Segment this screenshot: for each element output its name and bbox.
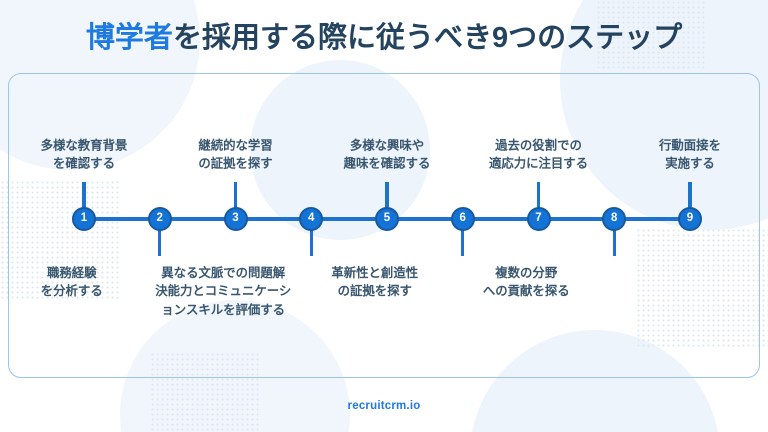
- timeline-node-5[interactable]: 5: [375, 207, 399, 231]
- timeline-node-6[interactable]: 6: [451, 207, 475, 231]
- page-title-rest: を採用する際に従うべき9つのステップ: [173, 22, 682, 54]
- timeline-label-8: 複数の分野 への貢献を探る: [438, 264, 614, 302]
- timeline-node-1[interactable]: 1: [72, 207, 96, 231]
- timeline-node-4[interactable]: 4: [299, 207, 323, 231]
- page-title: 博学者を採用する際に従うべき9つのステップ: [0, 14, 768, 56]
- timeline-label-7: 過去の役割での 適応力に注目する: [451, 136, 627, 174]
- timeline-label-3: 継続的な学習 の証拠を探す: [148, 136, 324, 174]
- timeline-node-7[interactable]: 7: [527, 207, 551, 231]
- timeline-label-4: 異なる文脈での問題解 決能力とコミュニケーシ ョンスキルを評価する: [135, 264, 311, 321]
- timeline-label-9: 行動面接を 実施する: [602, 136, 768, 174]
- infographic-canvas: 博学者を採用する際に従うべき9つのステップ 1多様な教育背景 を確認する2職務経…: [0, 0, 768, 432]
- timeline-label-6: 革新性と創造性 の証拠を探す: [287, 264, 463, 302]
- timeline-node-3[interactable]: 3: [224, 207, 248, 231]
- timeline-node-8[interactable]: 8: [602, 207, 626, 231]
- timeline-node-2[interactable]: 2: [148, 207, 172, 231]
- timeline-node-9[interactable]: 9: [678, 207, 702, 231]
- page-title-highlight: 博学者: [86, 22, 173, 54]
- timeline-label-1: 多様な教育背景 を確認する: [0, 136, 172, 174]
- footer-brand[interactable]: recruitcrm.io: [0, 400, 768, 412]
- timeline-label-5: 多様な興味や 趣味を確認する: [299, 136, 475, 174]
